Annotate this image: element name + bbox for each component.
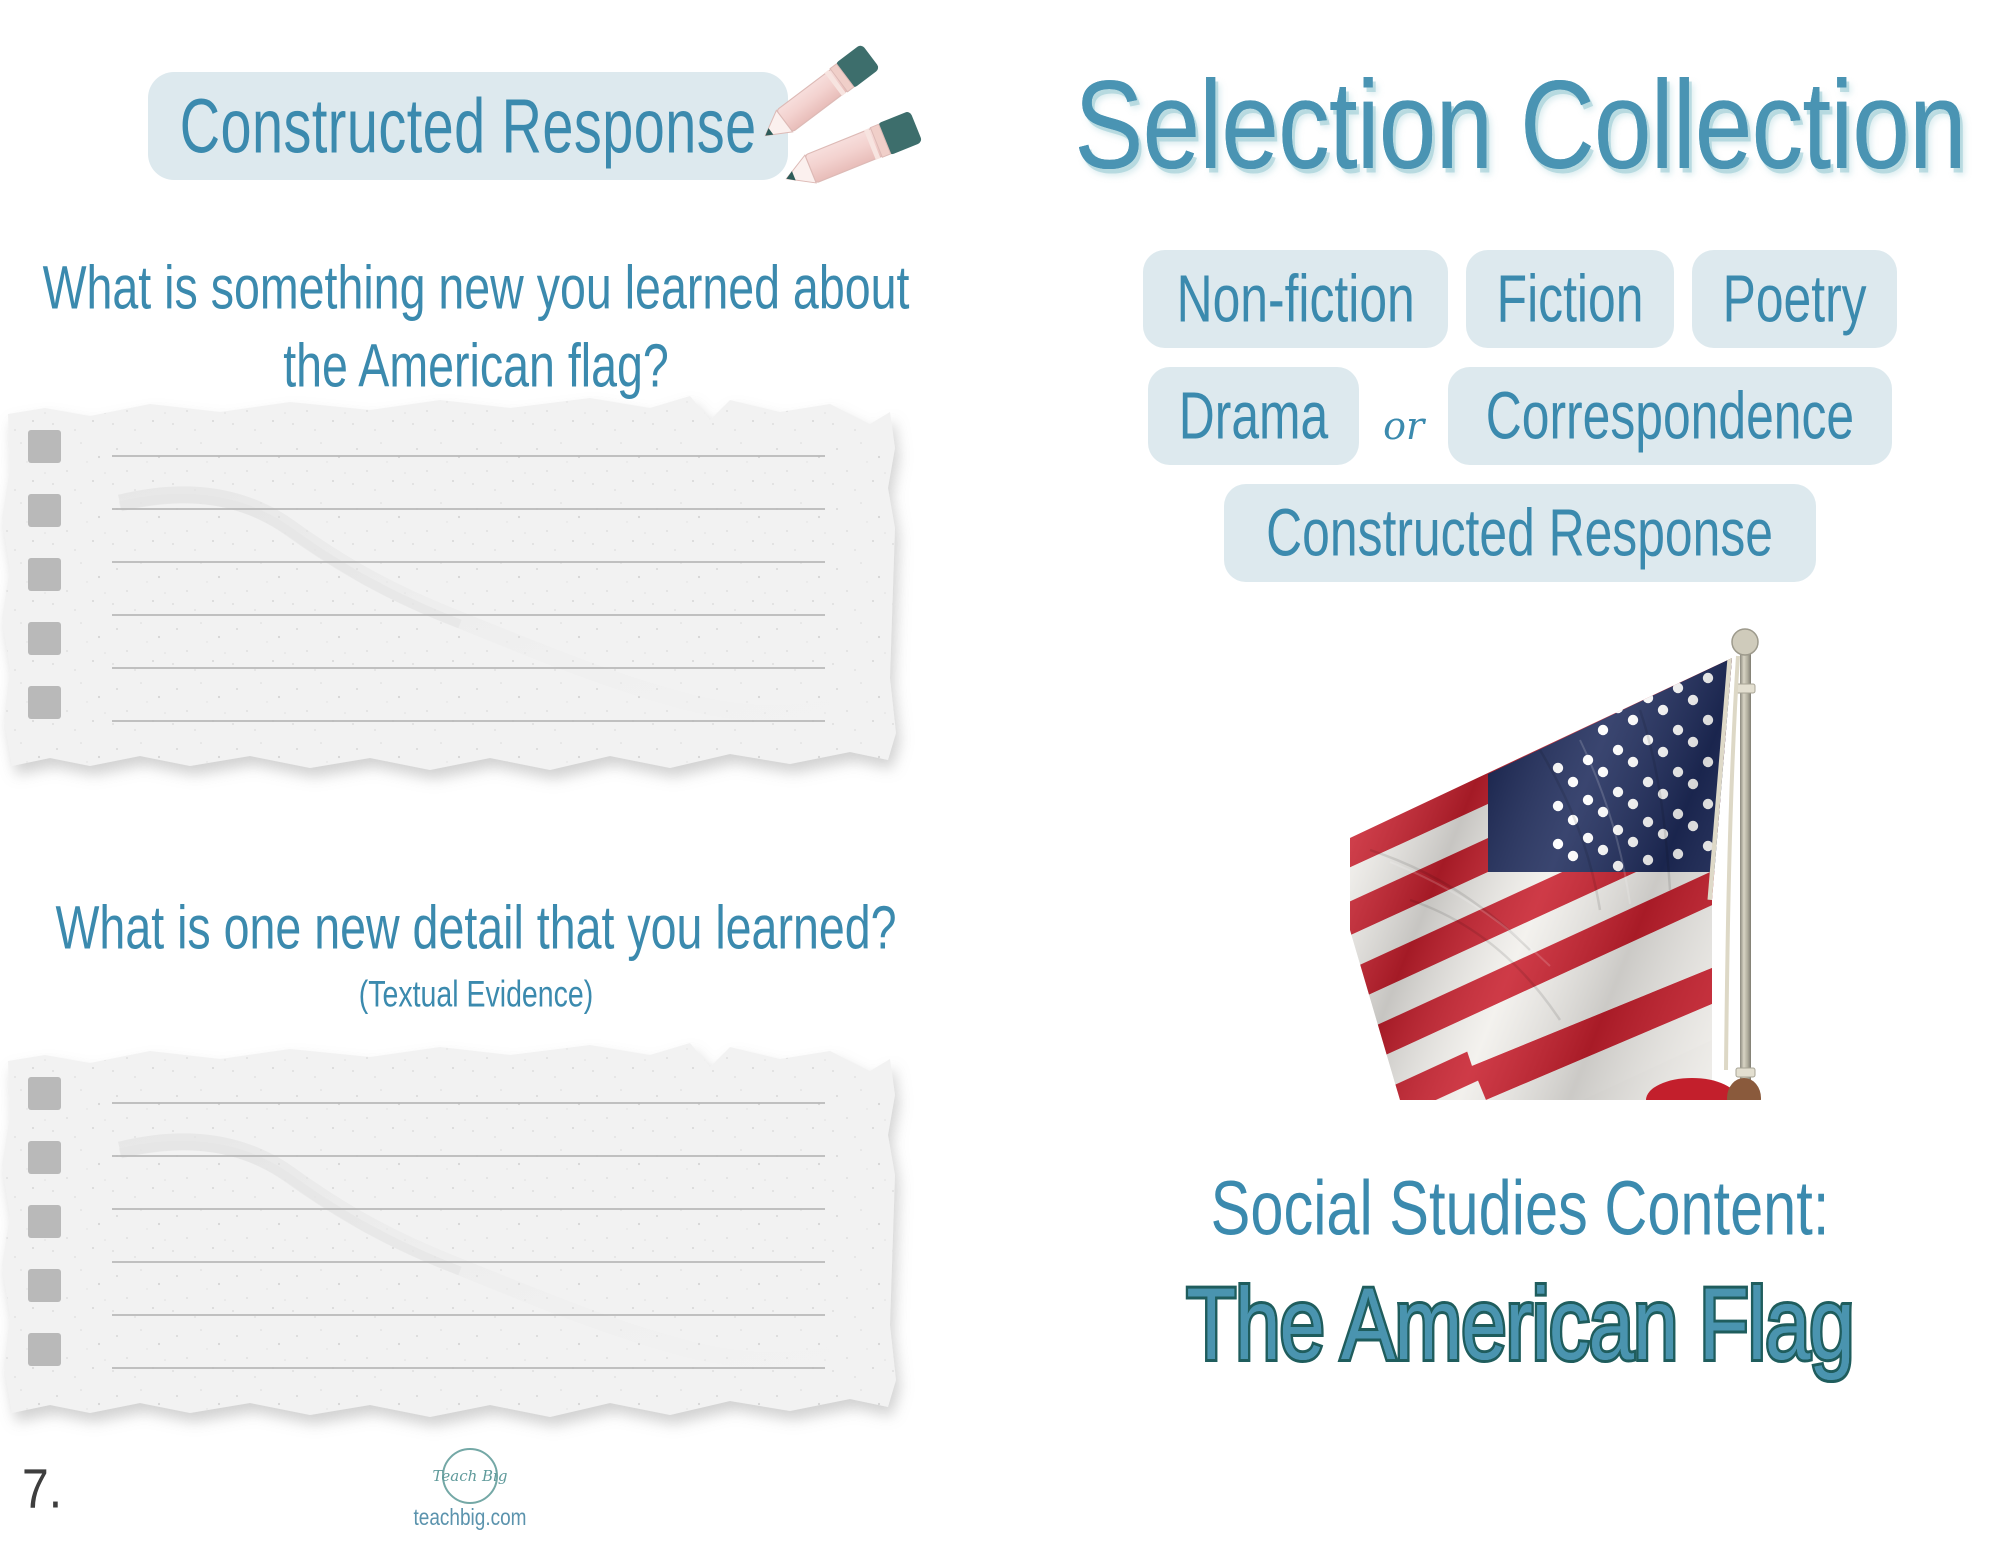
question-2-subnote: (Textual Evidence): [30, 975, 923, 1016]
right-panel: Selection Collection Selection Collectio…: [1040, 0, 2000, 1545]
answer-note-paper-2[interactable]: [0, 1025, 940, 1445]
pill-fiction-label: Fiction: [1497, 261, 1644, 338]
pill-non-fiction-label: Non-fiction: [1176, 261, 1414, 338]
pill-constructed-response-label: Constructed Response: [1267, 495, 1774, 572]
worksheet-page: Constructed Response: [0, 0, 2000, 1545]
american-flag-title: The American Flag: [1054, 1265, 1985, 1383]
pill-fiction[interactable]: Fiction: [1466, 250, 1674, 348]
teachbig-url-left: teachbig.com: [380, 1506, 560, 1532]
question-2-text: What is one new detail that you learned?: [30, 890, 923, 968]
pill-correspondence-label: Correspondence: [1486, 378, 1854, 455]
watermark-logo-left: Teach Big teachbig.com: [380, 1448, 560, 1530]
pill-poetry[interactable]: Poetry: [1692, 250, 1897, 348]
constructed-response-banner: Constructed Response: [148, 72, 788, 180]
teach-big-circle-icon: Teach Big: [442, 1448, 498, 1504]
page-number: 7.: [22, 1458, 62, 1521]
constructed-response-banner-label: Constructed Response: [180, 82, 757, 170]
answer-note-paper-1[interactable]: [0, 378, 940, 798]
pill-non-fiction[interactable]: Non-fiction: [1143, 250, 1448, 348]
social-studies-subtitle: Social Studies Content:: [1059, 1165, 1981, 1253]
american-flag-photo: [1340, 600, 1840, 1100]
left-panel: Constructed Response: [0, 0, 1040, 1545]
or-connector-label: or: [1377, 404, 1430, 448]
pill-correspondence[interactable]: Correspondence: [1448, 367, 1892, 465]
pencils-icon: [745, 40, 955, 200]
pill-drama-label: Drama: [1179, 378, 1328, 455]
category-pill-row-1: Non-fiction Fiction Poetry: [1040, 250, 2000, 348]
selection-collection-title: Selection Collection: [1059, 52, 1981, 197]
pill-poetry-label: Poetry: [1723, 261, 1867, 338]
category-pill-row-2: Drama or Correspondence: [1040, 367, 2000, 465]
teach-big-script-label: Teach Big: [433, 1467, 508, 1485]
category-pill-row-3: Constructed Response: [1040, 484, 2000, 582]
pill-drama[interactable]: Drama: [1148, 367, 1359, 465]
pill-constructed-response[interactable]: Constructed Response: [1224, 484, 1815, 582]
